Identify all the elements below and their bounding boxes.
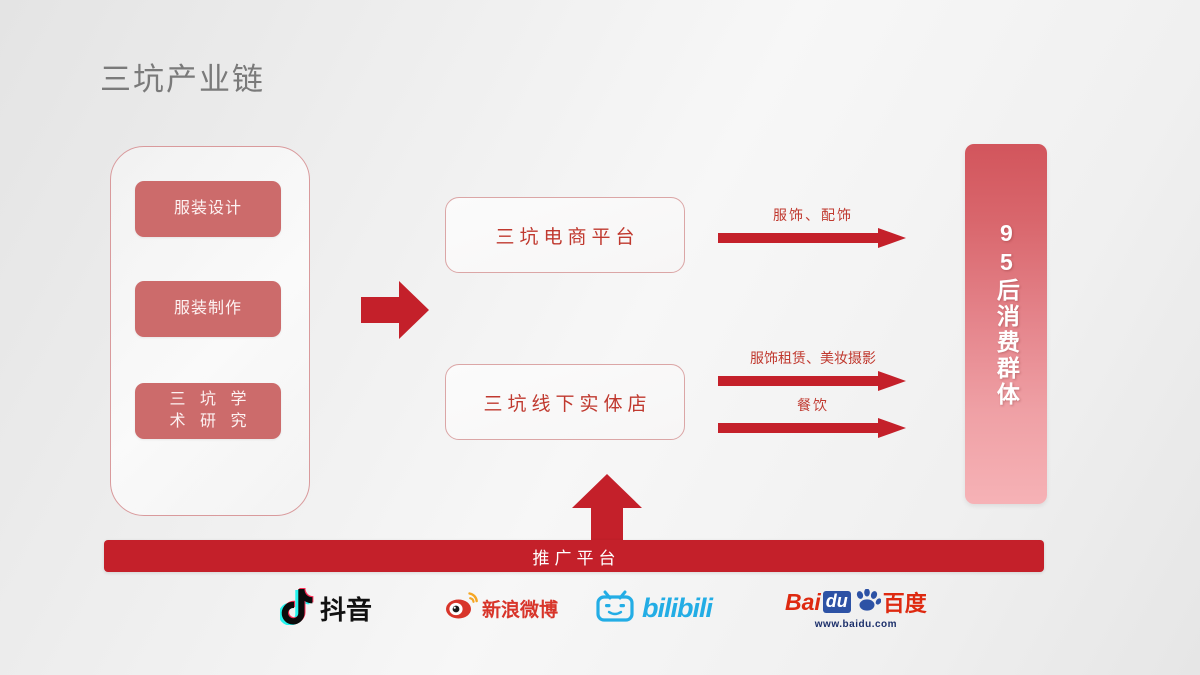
- supply-arrow-apparel: 服饰、配饰: [718, 205, 906, 248]
- arrow-right-icon: [361, 279, 429, 341]
- supply-arrow-catering: 餐饮: [718, 395, 906, 438]
- weibo-eye-icon: [445, 591, 479, 626]
- douyin-note-icon: [280, 587, 314, 630]
- promotion-platform-bar: 推广平台: [104, 540, 1044, 572]
- page-title: 三坑产业链: [100, 54, 265, 99]
- supply-item-label: 服装制作: [174, 298, 242, 320]
- consumer-group-digits: 95: [994, 220, 1019, 278]
- arrow-right-icon: [718, 371, 906, 391]
- channel-label: 三坑线下实体店: [478, 389, 651, 416]
- platform-logo-row: 抖音 新浪微博: [240, 582, 960, 636]
- slide-canvas: 三坑产业链 服装设计 服装制作 三 坑 学 术 研 究 三坑电商平台 三坑线下实…: [0, 0, 1200, 675]
- arrow-up-icon: [572, 474, 642, 544]
- logo-baidu[interactable]: Bai du 百度 www.baidu.com: [785, 582, 927, 634]
- supply-arrow-label: 服饰租赁、美妆摄影: [718, 348, 906, 368]
- supply-arrow-rental-beauty: 服饰租赁、美妆摄影: [718, 348, 906, 391]
- channel-ecommerce-platform[interactable]: 三坑电商平台: [445, 197, 685, 273]
- logo-weibo-label: 新浪微博: [482, 595, 558, 622]
- supply-item-label-line1: 三 坑 学: [170, 389, 252, 411]
- consumer-group-text: 后消费群体: [994, 278, 1019, 408]
- supply-item-clothing-design[interactable]: 服装设计: [135, 181, 281, 237]
- bilibili-tv-icon: [595, 589, 637, 628]
- logo-weibo[interactable]: 新浪微博: [445, 582, 558, 634]
- arrow-right-icon: [718, 418, 906, 438]
- supply-item-label: 服装设计: [174, 198, 242, 220]
- consumer-group-label: 95 后消费群体: [965, 220, 1047, 440]
- logo-douyin[interactable]: 抖音: [280, 582, 372, 634]
- channel-label: 三坑电商平台: [490, 222, 639, 249]
- promotion-platform-label: 推广平台: [104, 540, 1044, 572]
- logo-baidu-du: du: [823, 591, 851, 613]
- logo-douyin-label: 抖音: [320, 590, 372, 627]
- supply-item-label-line2: 术 研 究: [170, 411, 252, 433]
- logo-bilibili[interactable]: bilibili: [595, 582, 712, 634]
- logo-baidu-url: www.baidu.com: [815, 619, 897, 630]
- logo-baidu-cn: 百度: [883, 586, 927, 618]
- logo-baidu-bai: Bai: [785, 589, 821, 616]
- supply-arrow-label: 服饰、配饰: [718, 205, 906, 225]
- supply-item-clothing-production[interactable]: 服装制作: [135, 281, 281, 337]
- baidu-paw-icon: [853, 589, 881, 616]
- channel-offline-store[interactable]: 三坑线下实体店: [445, 364, 685, 440]
- logo-bilibili-label: bilibili: [642, 593, 712, 624]
- consumer-group-bar: 95 后消费群体: [965, 144, 1047, 504]
- supply-arrow-label: 餐饮: [718, 395, 906, 415]
- supply-item-academic-research[interactable]: 三 坑 学 术 研 究: [135, 383, 281, 439]
- arrow-right-icon: [718, 228, 906, 248]
